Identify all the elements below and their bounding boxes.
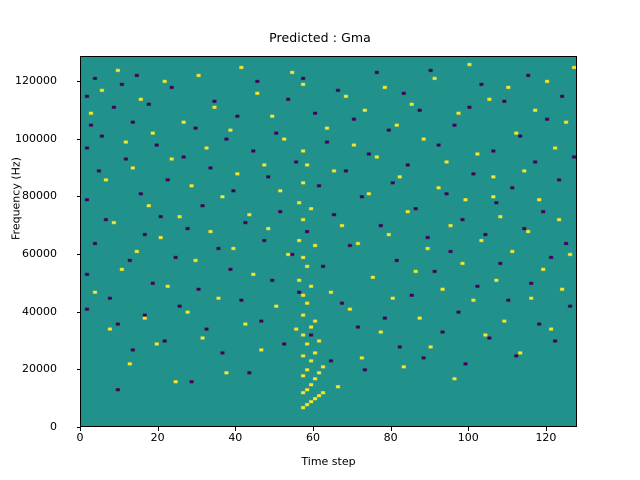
y-tick-mark: [77, 139, 81, 140]
x-tick-mark: [313, 427, 314, 431]
figure-canvas: Predicted : Gma 020000400006000080000100…: [0, 0, 640, 480]
x-tick-mark: [468, 427, 469, 431]
y-tick-mark: [77, 312, 81, 313]
x-tick-mark: [391, 427, 392, 431]
heatmap-image: [81, 57, 576, 426]
x-tick-label: 80: [361, 432, 421, 443]
x-tick-label: 20: [128, 432, 188, 443]
y-axis-label: Frequency (Hz): [10, 0, 23, 399]
y-tick-mark: [77, 196, 81, 197]
y-tick-mark: [77, 254, 81, 255]
x-axis-label: Time step: [80, 455, 577, 468]
chart-title: Predicted : Gma: [0, 30, 640, 45]
x-tick-label: 40: [205, 432, 265, 443]
x-tick-mark: [546, 427, 547, 431]
y-tick-mark: [77, 81, 81, 82]
x-tick-mark: [80, 427, 81, 431]
y-tick-label: 0: [0, 421, 57, 432]
x-tick-label: 60: [283, 432, 343, 443]
y-tick-mark: [77, 369, 81, 370]
x-tick-label: 100: [438, 432, 498, 443]
x-tick-mark: [158, 427, 159, 431]
x-tick-mark: [235, 427, 236, 431]
x-tick-label: 120: [516, 432, 576, 443]
heatmap-axes[interactable]: [80, 56, 577, 427]
x-tick-label: 0: [50, 432, 110, 443]
